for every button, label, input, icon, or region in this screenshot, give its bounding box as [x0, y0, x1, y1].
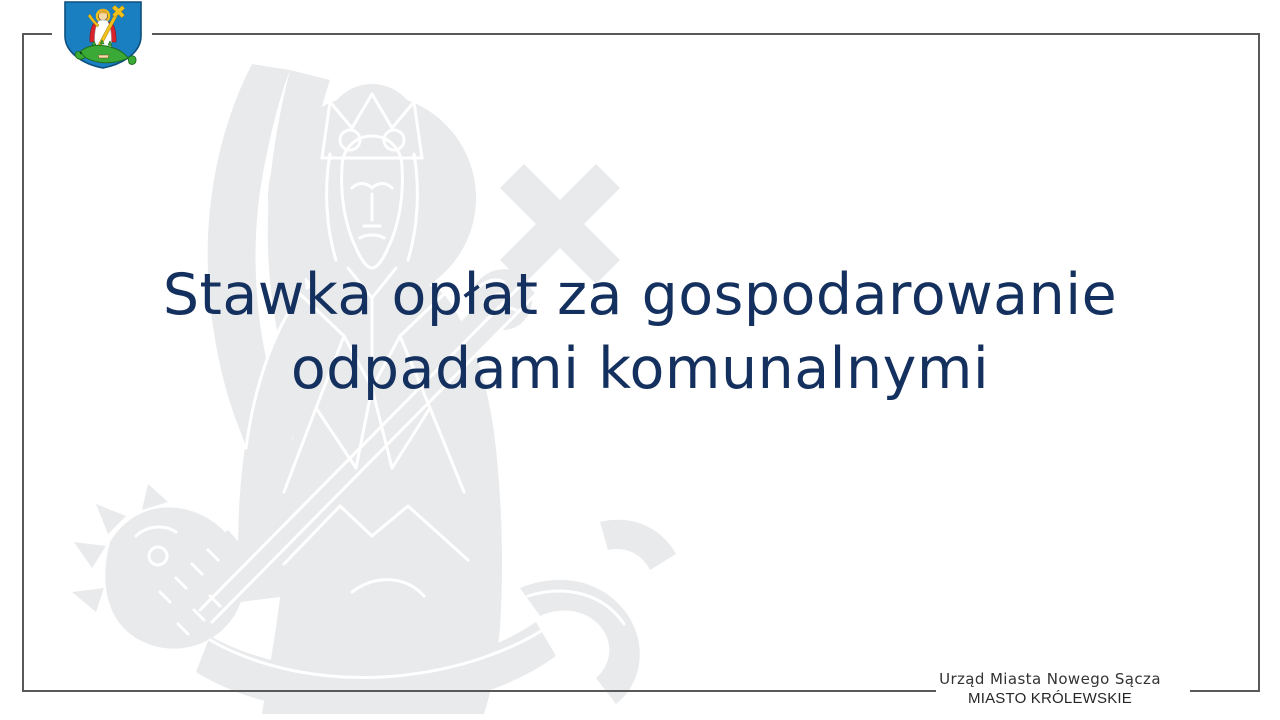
- title-line-1: Stawka opłat za gospodarowanie: [60, 258, 1220, 332]
- frame-left-edge: [22, 33, 24, 692]
- title-line-2: odpadami komunalnymi: [60, 332, 1220, 406]
- frame-bottom-segment: [22, 690, 936, 692]
- slide-title: Stawka opłat za gospodarowanie odpadami …: [60, 258, 1220, 406]
- frame-right-edge: [1258, 33, 1260, 692]
- footer-tagline: MIASTO KRÓLEWSKIE: [880, 689, 1220, 708]
- coat-of-arms-icon: [62, 0, 144, 70]
- footer-office-name: Urząd Miasta Nowego Sącza: [880, 670, 1220, 689]
- frame-top-segment: [152, 33, 1260, 35]
- slide-canvas: Stawka opłat za gospodarowanie odpadami …: [0, 0, 1280, 720]
- slide-footer: Urząd Miasta Nowego Sącza MIASTO KRÓLEWS…: [880, 670, 1220, 708]
- frame-top-left-segment: [22, 33, 52, 35]
